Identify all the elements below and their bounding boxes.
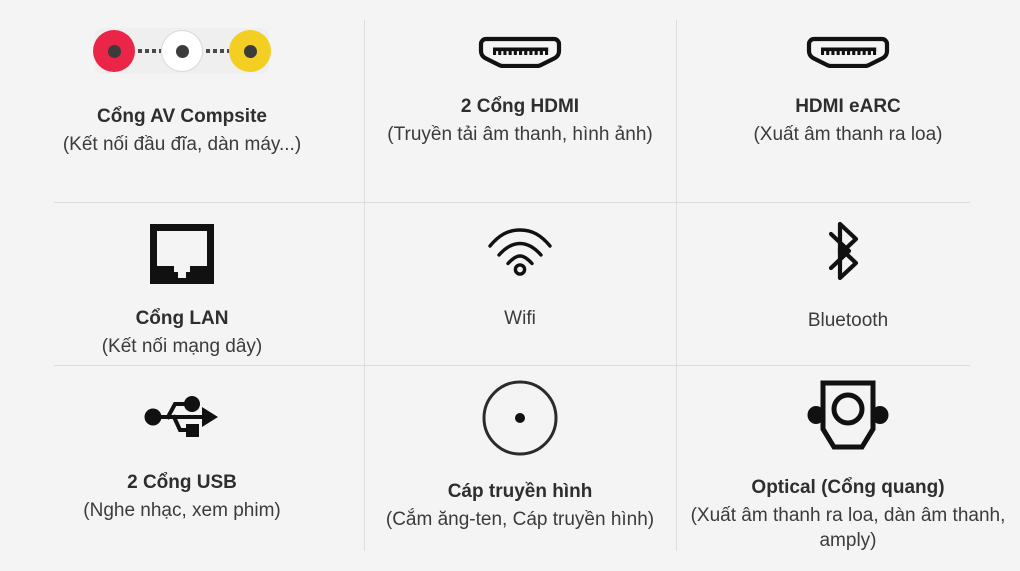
hdmi-earc-title: HDMI eARC <box>753 94 942 119</box>
av-yellow-jack-pin <box>244 45 257 58</box>
usb-subtitle: (Nghe nhạc, xem phim) <box>83 498 280 523</box>
hdmi-port-icon <box>478 36 562 68</box>
port-cell-wifi: Wifi <box>364 202 676 365</box>
usb-title: 2 Cổng USB <box>83 470 280 495</box>
lan-subtitle: (Kết nối mạng dây) <box>102 334 263 359</box>
hdmi-earc-icon <box>806 36 890 68</box>
coaxial-title: Cáp truyền hình <box>386 479 654 504</box>
usb-labels: 2 Cổng USB (Nghe nhạc, xem phim) <box>83 470 280 523</box>
usb-icon-wrap <box>144 392 220 440</box>
hdmi-subtitle: (Truyền tải âm thanh, hình ảnh) <box>387 122 652 147</box>
hdmi-earc-icon-wrap <box>806 36 890 68</box>
lan-port-icon <box>150 224 214 284</box>
port-cell-bluetooth: Bluetooth <box>676 202 1020 365</box>
wifi-icon <box>487 228 553 276</box>
av-composite-title: Cổng AV Compsite <box>63 104 301 129</box>
bluetooth-icon <box>828 220 868 282</box>
coaxial-antenna-icon <box>481 379 559 457</box>
coaxial-icon-wrap <box>481 379 559 457</box>
av-red-jack-pin <box>108 45 121 58</box>
hdmi-title: 2 Cổng HDMI <box>387 94 652 119</box>
port-cell-usb: 2 Cổng USB (Nghe nhạc, xem phim) <box>0 365 364 571</box>
optical-labels: Optical (Cổng quang) (Xuất âm thanh ra l… <box>676 475 1020 553</box>
optical-title: Optical (Cổng quang) <box>676 475 1020 500</box>
port-cell-coaxial: Cáp truyền hình (Cắm ăng-ten, Cáp truyền… <box>364 365 676 571</box>
av-dots-separator-left <box>135 49 161 53</box>
av-composite-labels: Cổng AV Compsite (Kết nối đầu đĩa, dàn m… <box>63 104 301 157</box>
lan-labels: Cổng LAN (Kết nối mạng dây) <box>102 306 263 359</box>
port-cell-hdmi: 2 Cổng HDMI (Truyền tải âm thanh, hình ả… <box>364 0 676 202</box>
wifi-labels: Wifi <box>504 306 536 331</box>
bluetooth-labels: Bluetooth <box>808 308 888 333</box>
av-dots-separator-right <box>203 49 229 53</box>
connectivity-ports-panel: Cổng AV Compsite (Kết nối đầu đĩa, dàn m… <box>0 0 1020 571</box>
optical-icon-wrap <box>806 377 890 453</box>
lan-icon-wrap <box>150 224 214 284</box>
coaxial-subtitle: (Cắm ăng-ten, Cáp truyền hình) <box>386 507 654 532</box>
hdmi-earc-labels: HDMI eARC (Xuất âm thanh ra loa) <box>753 94 942 147</box>
hdmi-earc-subtitle: (Xuất âm thanh ra loa) <box>753 122 942 147</box>
ports-grid: Cổng AV Compsite (Kết nối đầu đĩa, dàn m… <box>0 0 1020 571</box>
hdmi-labels: 2 Cổng HDMI (Truyền tải âm thanh, hình ả… <box>387 94 652 147</box>
av-composite-icon <box>95 28 269 74</box>
av-yellow-jack-icon <box>229 30 271 72</box>
port-cell-optical: Optical (Cổng quang) (Xuất âm thanh ra l… <box>676 365 1020 571</box>
port-cell-av-composite: Cổng AV Compsite (Kết nối đầu đĩa, dàn m… <box>0 0 364 202</box>
wifi-label: Wifi <box>504 306 536 331</box>
optical-subtitle: (Xuất âm thanh ra loa, dàn âm thanh, amp… <box>676 503 1020 553</box>
usb-icon <box>144 392 220 440</box>
av-composite-icon-wrap <box>95 28 269 74</box>
av-red-jack-icon <box>93 30 135 72</box>
hdmi-icon-wrap <box>478 36 562 68</box>
bluetooth-label: Bluetooth <box>808 308 888 333</box>
bluetooth-icon-wrap <box>828 220 868 282</box>
lan-title: Cổng LAN <box>102 306 263 331</box>
wifi-icon-wrap <box>487 228 553 276</box>
port-cell-hdmi-earc: HDMI eARC (Xuất âm thanh ra loa) <box>676 0 1020 202</box>
av-white-jack-icon <box>161 30 203 72</box>
optical-port-icon <box>806 377 890 453</box>
coaxial-labels: Cáp truyền hình (Cắm ăng-ten, Cáp truyền… <box>386 479 654 532</box>
av-composite-subtitle: (Kết nối đầu đĩa, dàn máy...) <box>63 132 301 157</box>
port-cell-lan: Cổng LAN (Kết nối mạng dây) <box>0 202 364 365</box>
av-white-jack-pin <box>176 45 189 58</box>
